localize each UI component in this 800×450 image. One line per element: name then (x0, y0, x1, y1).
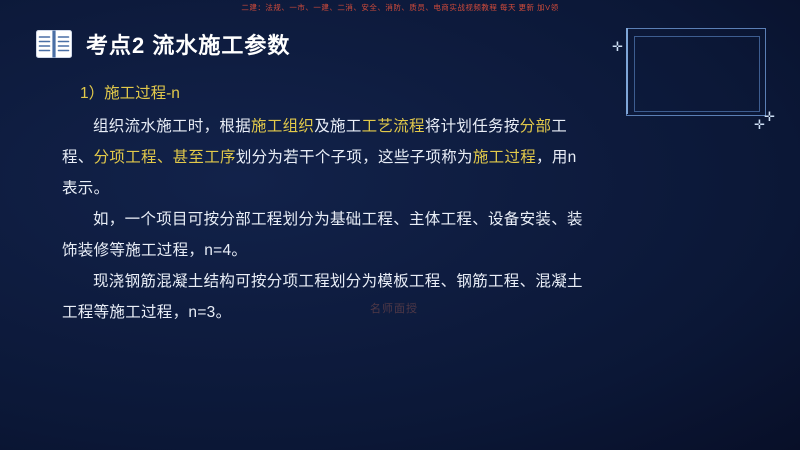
slide-canvas: 二建：法规、一市、一建、二消、安全、消防、质员、电商实战视频教程 每天 更新 加… (0, 0, 800, 450)
section-subheading: 1）施工过程‑n (62, 78, 592, 109)
paragraph-list: 组织流水施工时，根据施工组织及施工工艺流程将计划任务按分部工程、分项工程、甚至工… (62, 111, 592, 328)
sparkle-icon: ✛ (612, 40, 623, 53)
body-paragraph: 组织流水施工时，根据施工组织及施工工艺流程将计划任务按分部工程、分项工程、甚至工… (62, 111, 592, 204)
body-text-run: 组织流水施工时，根据 (93, 118, 251, 135)
highlighted-term: 工艺流程 (362, 118, 425, 135)
body-text-run: 如，一个项目可按分部工程划分为基础工程、主体工程、设备安装、装饰装修等施工过程，… (62, 211, 583, 259)
open-book-icon (36, 28, 72, 60)
highlighted-term: 工序 (204, 149, 236, 166)
body-paragraph: 如，一个项目可按分部工程划分为基础工程、主体工程、设备安装、装饰装修等施工过程，… (62, 204, 592, 266)
frame-inner (634, 36, 760, 112)
highlighted-term: 分部 (520, 118, 552, 135)
sparkle-tiny-icon: ✛ (754, 118, 765, 131)
highlighted-term: 施工组织 (251, 118, 314, 135)
slide-body: 1）施工过程‑n 组织流水施工时，根据施工组织及施工工艺流程将计划任务按分部工程… (62, 78, 592, 328)
slide-title-row: 考点2 流水施工参数 (36, 28, 290, 60)
body-text-run: 将计划任务按 (425, 118, 520, 135)
watermark-text: 名师面授 (370, 300, 418, 316)
highlighted-term: 、甚至 (157, 149, 204, 166)
highlighted-term: 分项工程 (94, 149, 157, 166)
body-text-run: 现浇钢筋混凝土结构可按分项工程划分为模板工程、钢筋工程、混凝土工程等施工过程，n… (62, 273, 583, 321)
sparkle-small-icon: ✛ (764, 110, 775, 123)
body-paragraph: 现浇钢筋混凝土结构可按分项工程划分为模板工程、钢筋工程、混凝土工程等施工过程，n… (62, 266, 592, 328)
top-scrolling-banner: 二建：法规、一市、一建、二消、安全、消防、质员、电商实战视频教程 每天 更新 加… (0, 2, 800, 13)
body-text-run: 划分为若干个子项，这些子项称为 (236, 149, 473, 166)
highlighted-term: 施工过程 (473, 149, 536, 166)
decorative-frame: ✛ ✛ ✛ (612, 22, 772, 126)
page-title: 考点2 流水施工参数 (86, 28, 290, 60)
frame-accent-bar (626, 28, 628, 114)
body-text-run: 及施工 (314, 118, 361, 135)
